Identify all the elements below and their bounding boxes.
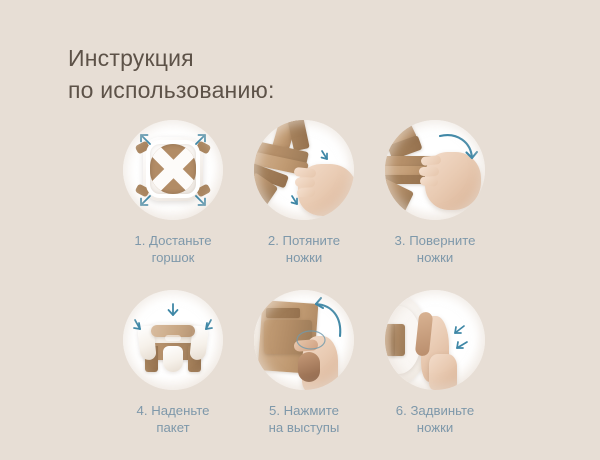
step-5-caption: 5. Нажмите на выступы (241, 402, 367, 436)
instruction-poster: Инструкция по использованию: (0, 0, 600, 450)
step-1-caption: 1. Достаньте горшок (110, 232, 236, 266)
steps-grid: 1. Достаньте горшок (108, 120, 500, 460)
step-5-illustration (254, 290, 354, 390)
two-small-down-right-arrows-icon (254, 120, 354, 220)
step-item-3: 3. Поверните ножки (370, 120, 500, 290)
step-4-illustration (123, 290, 223, 390)
step-6-illustration (385, 290, 485, 390)
curved-up-left-arrow-icon (254, 290, 354, 390)
step-3-illustration (385, 120, 485, 220)
step-item-4: 4. Наденьте пакет (108, 290, 238, 460)
step-4-caption: 4. Наденьте пакет (110, 402, 236, 436)
step-item-5: 5. Нажмите на выступы (239, 290, 369, 460)
page-title: Инструкция по использованию: (68, 42, 275, 106)
step-1-illustration (123, 120, 223, 220)
two-small-left-arrows-icon (385, 290, 485, 390)
step-2-caption: 2. Потяните ножки (241, 232, 367, 266)
step-item-2: 2. Потяните ножки (239, 120, 369, 290)
step-2-illustration (254, 120, 354, 220)
step-3-caption: 3. Поверните ножки (372, 232, 498, 266)
step-item-6: 6. Задвиньте ножки (370, 290, 500, 460)
step-6-caption: 6. Задвиньте ножки (372, 402, 498, 436)
three-downward-arrows-icon (123, 290, 223, 390)
step-item-1: 1. Достаньте горшок (108, 120, 238, 290)
curved-clockwise-arrow-icon (385, 120, 485, 220)
four-diagonal-outward-arrows-icon (123, 120, 223, 220)
